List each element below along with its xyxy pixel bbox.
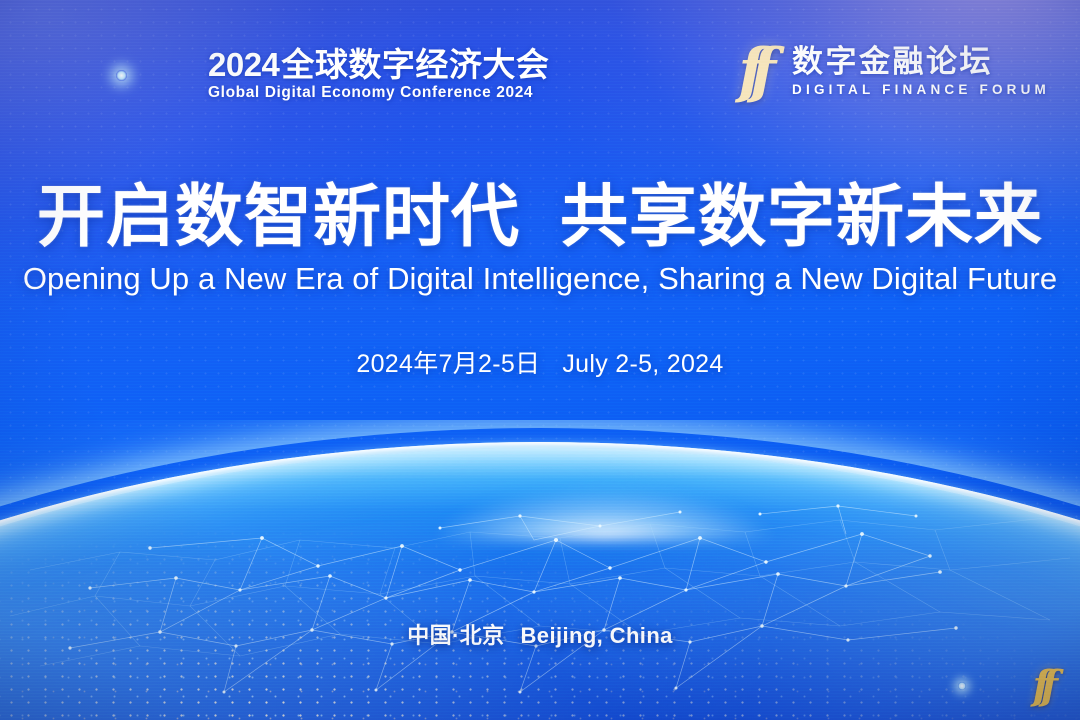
date-chinese: 2024年7月2-5日 [356, 350, 540, 378]
spark-icon-small [958, 682, 966, 690]
gdec-year: 2024 [208, 46, 279, 83]
gdec-title-cn-text: 全球数字经济大会 [281, 46, 549, 83]
headline-block: 开启数智新时代共享数字新未来 Opening Up a New Era of D… [0, 182, 1080, 380]
headline-cn-part2: 共享数字新未来 [560, 179, 1043, 255]
date-english: July 2-5, 2024 [562, 350, 723, 378]
gdec-title-cn: 2024全球数字经济大会 [208, 48, 549, 82]
conference-backdrop: 2024全球数字经济大会 Global Digital Economy Conf… [0, 0, 1080, 720]
ff-monogram-icon: ff [738, 47, 776, 96]
conference-location: 中国·北京Beijing, China [0, 618, 1080, 650]
bottom-logo-group: ff [903, 666, 1058, 706]
spark-icon [116, 70, 127, 81]
dff-title-cn: 数字金融论坛 [792, 46, 1050, 79]
conference-dates: 2024年7月2-5日July 2-5, 2024 [0, 344, 1080, 380]
digital-finance-forum-logo: ff 数字金融论坛 DIGITAL FINANCE FORUM [738, 46, 1050, 97]
gdec-conference-logo: 2024全球数字经济大会 Global Digital Economy Conf… [30, 44, 549, 106]
gdec-logo-icon-small [903, 666, 1007, 706]
location-english: Beijing, China [521, 623, 673, 648]
headline-english: Opening Up a New Era of Digital Intellig… [0, 261, 1080, 297]
dff-title-en: DIGITAL FINANCE FORUM [792, 82, 1050, 97]
headline-cn-part1: 开启数智新时代 [37, 179, 520, 255]
headline-chinese: 开启数智新时代共享数字新未来 [0, 182, 1080, 253]
gdec-title-en: Global Digital Economy Conference 2024 [208, 84, 549, 102]
ff-monogram-icon-small: ff [1033, 670, 1058, 703]
gdec-logo-icon [30, 44, 194, 106]
location-chinese: 中国·北京 [407, 623, 504, 648]
